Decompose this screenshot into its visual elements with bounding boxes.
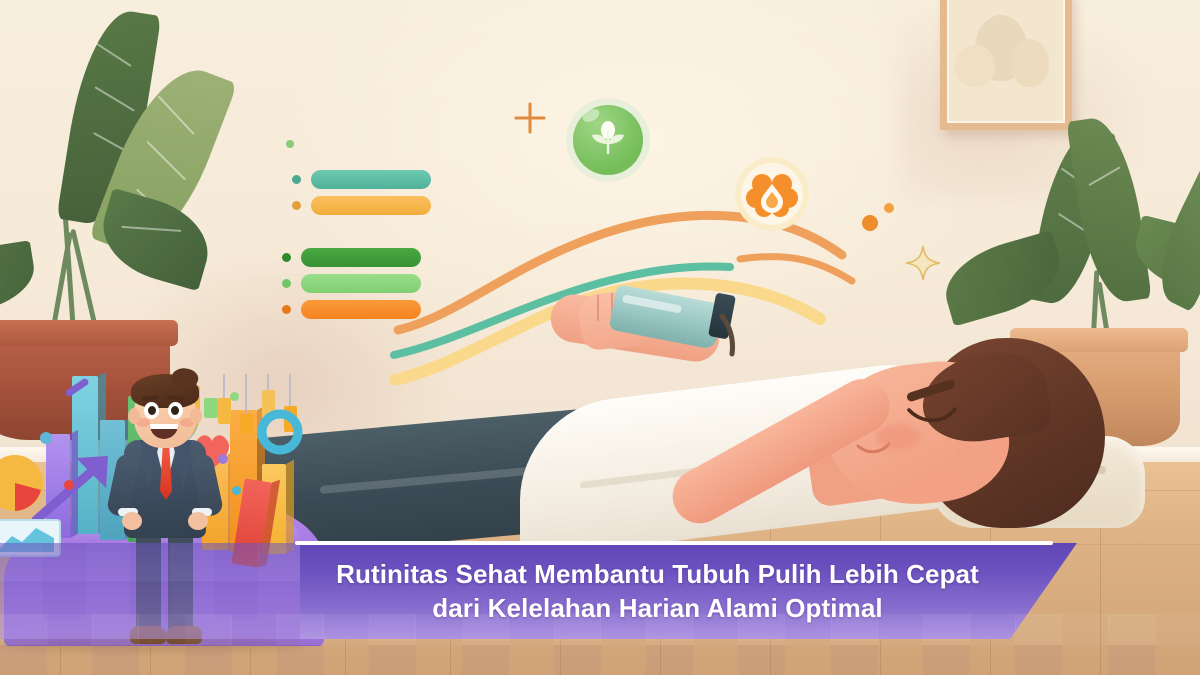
mosaic-block: [508, 614, 555, 645]
mosaic-block: [0, 614, 47, 645]
mosaic-block: [646, 645, 693, 675]
sprout-icon: [585, 117, 631, 163]
mosaic-block: [277, 614, 324, 645]
mosaic-block: [129, 543, 172, 581]
mosaic-block: [1108, 645, 1155, 675]
mosaic-block: [1062, 614, 1109, 645]
mosaic-block: [277, 645, 324, 675]
mosaic-block: [257, 581, 300, 619]
mosaic-block: [185, 614, 232, 645]
mosaic-block: [214, 581, 257, 619]
mosaic-block: [738, 614, 785, 645]
mosaic-block: [138, 645, 185, 675]
decor-dot: [64, 480, 74, 490]
badge-plant: [566, 98, 650, 182]
mosaic-block: [646, 614, 693, 645]
mosaic-block: [369, 614, 416, 645]
mosaic-block: [831, 614, 878, 645]
mosaic-block: [138, 614, 185, 645]
mosaic-block: [86, 581, 129, 619]
mosaic-block: [171, 543, 214, 581]
plus-icon: [512, 100, 548, 136]
mosaic-block: [323, 645, 370, 675]
mosaic-block: [171, 581, 214, 619]
bullet-dot: [292, 201, 301, 210]
ear: [954, 446, 984, 480]
title-line-1: Rutinitas Sehat Membantu Tubuh Pulih Leb…: [336, 558, 979, 592]
mosaic-block: [231, 645, 278, 675]
mosaic-block: [231, 614, 278, 645]
bar-pill: [311, 170, 431, 189]
mosaic-block: [831, 645, 878, 675]
cheek-blush: [876, 424, 920, 450]
ear: [128, 408, 140, 424]
mosaic-block: [214, 543, 257, 581]
mosaic-block: [129, 581, 172, 619]
mosaic-block: [0, 543, 43, 581]
decor-dot-orange-large: [862, 215, 878, 231]
decor-dot: [232, 486, 241, 495]
decor-dot: [230, 392, 239, 401]
mosaic-block: [415, 645, 462, 675]
mosaic-block: [1108, 614, 1155, 645]
mosaic-block: [92, 645, 139, 675]
hand: [122, 512, 142, 530]
decor-dot-green: [286, 140, 294, 148]
leaf: [92, 188, 219, 291]
bullet-dot: [292, 175, 301, 184]
hand: [188, 512, 208, 530]
mosaic-block: [692, 645, 739, 675]
mosaic-block: [877, 645, 924, 675]
mosaic-block: [0, 645, 47, 675]
mosaic-block: [46, 645, 93, 675]
mosaic-block: [323, 614, 370, 645]
mosaic-block: [923, 614, 970, 645]
mosaic-block: [1062, 645, 1109, 675]
mosaic-block: [508, 645, 555, 675]
mosaic-block: [692, 614, 739, 645]
mosaic-block: [600, 645, 647, 675]
mosaic-block: [1015, 614, 1062, 645]
mosaic-block: [600, 614, 647, 645]
mosaic-block: [923, 645, 970, 675]
mosaic-block: [46, 614, 93, 645]
mosaic-block: [554, 614, 601, 645]
eye: [168, 402, 183, 419]
mosaic-block: [877, 614, 924, 645]
mosaic-block: [1015, 645, 1062, 675]
plant-pot-left-rim: [0, 320, 178, 346]
ear: [190, 408, 202, 424]
infographic-bar-teal: [292, 170, 431, 189]
mosaic-block: [554, 645, 601, 675]
bullet-dot: [282, 253, 291, 262]
badge-droplet: [735, 157, 809, 231]
pour-stream: [716, 314, 756, 360]
decor-dot-orange-small: [884, 203, 894, 213]
mosaic-block: [785, 614, 832, 645]
mosaic-block: [43, 543, 86, 581]
plant-left: [0, 0, 270, 420]
leaf: [0, 240, 39, 318]
illustration-canvas: Rutinitas Sehat Membantu Tubuh Pulih Leb…: [0, 0, 1200, 675]
mosaic-block: [257, 543, 300, 581]
donut-icon: [256, 408, 304, 456]
mosaic-block: [92, 614, 139, 645]
person-lying-down: [250, 270, 1150, 560]
mosaic-block: [738, 645, 785, 675]
mosaic-block: [785, 645, 832, 675]
mosaic-block: [86, 543, 129, 581]
banner-rule: [295, 541, 1053, 545]
compression-artifact-band: [0, 614, 1200, 675]
mosaic-block: [969, 645, 1016, 675]
mosaic-block: [1154, 614, 1200, 645]
mosaic-block: [415, 614, 462, 645]
eye: [144, 402, 159, 419]
closed-eye: [906, 404, 958, 426]
droplet-flower-icon: [742, 164, 802, 224]
mosaic-block: [0, 581, 43, 619]
mosaic-block: [1154, 645, 1200, 675]
compression-artifact-band-left: [0, 543, 300, 618]
mosaic-block: [462, 614, 509, 645]
mosaic-block: [369, 645, 416, 675]
mosaic-block: [969, 614, 1016, 645]
decor-dot: [40, 432, 52, 444]
mosaic-block: [43, 581, 86, 619]
mosaic-block: [462, 645, 509, 675]
mosaic-block: [185, 645, 232, 675]
